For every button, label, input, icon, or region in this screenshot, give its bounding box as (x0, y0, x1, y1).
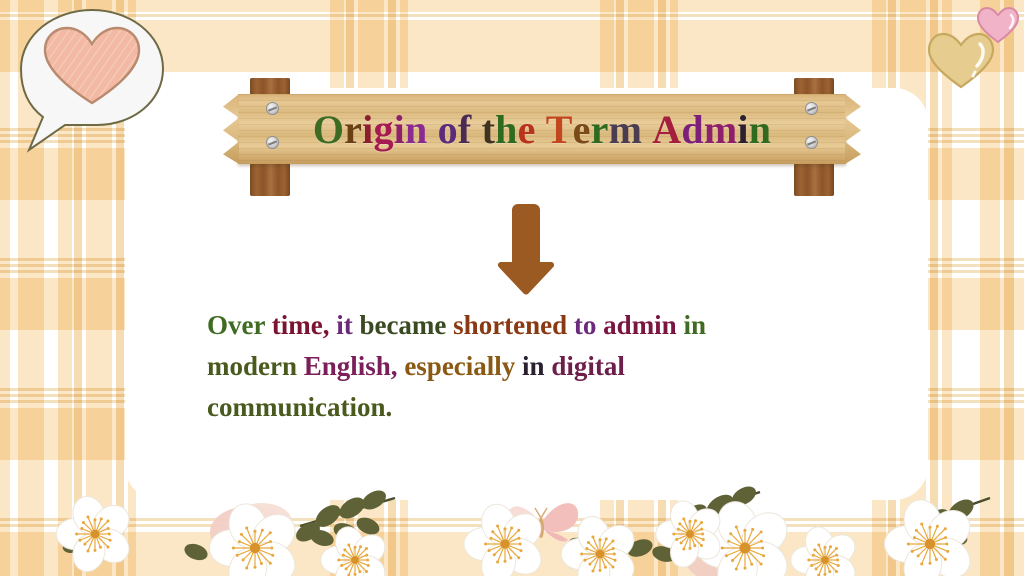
wild-rose-flower (464, 500, 548, 576)
title-letter: h (495, 106, 517, 153)
wooden-sign: Origin of the Term Admin (238, 78, 846, 196)
body-word: became (359, 310, 453, 340)
title-letter: m (609, 106, 643, 153)
floral-border (0, 456, 1024, 576)
body-word: digital (551, 351, 625, 381)
title-letter (471, 106, 481, 153)
title-letter: e (573, 106, 591, 153)
title-letter: m (704, 106, 738, 153)
gold-heart-icon (925, 28, 997, 90)
body-word: it (336, 310, 359, 340)
body-word: communication. (207, 392, 392, 422)
title-letter: A (652, 106, 681, 153)
wild-rose-flowers (56, 492, 977, 576)
down-arrow-icon (496, 198, 556, 298)
title-letter: i (394, 106, 405, 153)
body-word: modern (207, 351, 304, 381)
wild-rose-flower (56, 492, 135, 575)
wild-rose-flower (321, 523, 391, 576)
title-letter: t (482, 106, 496, 153)
body-word: time, (272, 310, 336, 340)
body-line: communication. (207, 387, 887, 428)
wild-rose-flower (209, 499, 302, 576)
body-word: especially (404, 351, 522, 381)
title-letter (536, 106, 546, 153)
title-letter: n (405, 106, 427, 153)
title-letter: e (518, 106, 536, 153)
title-letter: d (681, 106, 703, 153)
title-letter: T (546, 106, 573, 153)
title-letter: i (737, 106, 748, 153)
page-title: Origin of the Term Admin (238, 94, 846, 164)
title-letter: o (438, 106, 458, 153)
body-word: English, (304, 351, 405, 381)
title-letter: g (373, 106, 393, 153)
body-word: to (574, 310, 603, 340)
title-letter: r (344, 106, 362, 153)
title-letter (642, 106, 652, 153)
body-line: Over time, it became shortened to admin … (207, 305, 887, 346)
wild-rose-flower (791, 523, 861, 576)
body-word: in (683, 310, 706, 340)
body-word: admin (603, 310, 683, 340)
body-word: in (522, 351, 551, 381)
body-word: Over (207, 310, 272, 340)
title-letter: r (591, 106, 609, 153)
speech-bubble-heart-icon (17, 6, 167, 154)
body-paragraph: Over time, it became shortened to admin … (207, 305, 887, 428)
body-line: modern English, especially in digital (207, 346, 887, 387)
title-letter: i (362, 106, 373, 153)
title-letter: f (458, 106, 472, 153)
body-word: shortened (453, 310, 574, 340)
title-letter: O (313, 106, 344, 153)
title-letter: n (749, 106, 771, 153)
slide: Origin of the Term Admin Over time, it b… (0, 0, 1024, 576)
title-letter (427, 106, 437, 153)
